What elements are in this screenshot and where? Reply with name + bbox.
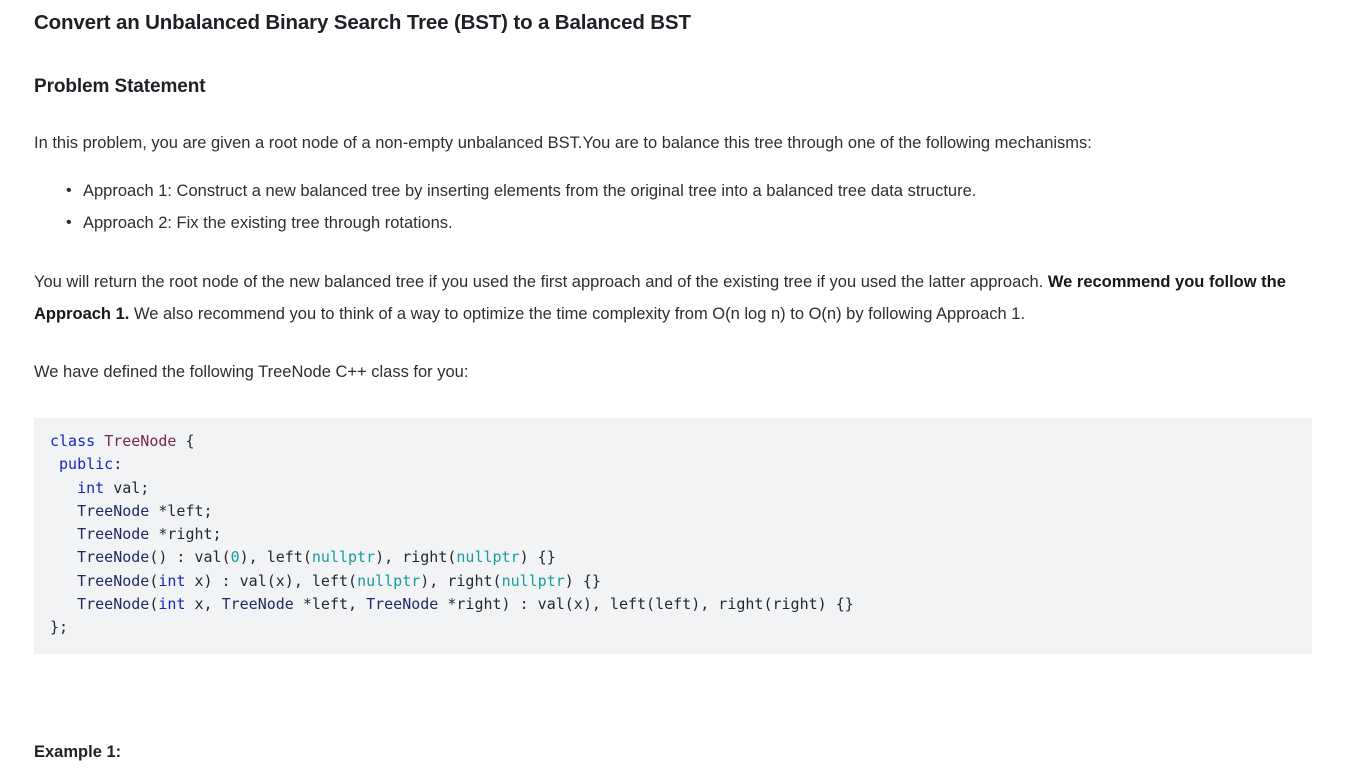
code-token: *right) : val(x), left(left), right(righ… — [438, 595, 853, 613]
section-heading-problem-statement: Problem Statement — [34, 36, 1312, 100]
code-token — [50, 502, 77, 520]
return-paragraph: You will return the root node of the new… — [34, 239, 1312, 330]
code-token: TreeNode — [104, 432, 176, 450]
code-token: TreeNode — [77, 502, 149, 520]
code-token: ), right( — [375, 548, 456, 566]
code-token: x, — [185, 595, 221, 613]
code-token: ), right( — [420, 572, 501, 590]
class-intro-paragraph: We have defined the following TreeNode C… — [34, 330, 1312, 388]
code-token: nullptr — [456, 548, 519, 566]
list-item: Approach 1: Construct a new balanced tre… — [83, 175, 1312, 207]
code-token: () : val( — [149, 548, 230, 566]
example-heading: Example 1: — [34, 654, 1312, 764]
approach-list: Approach 1: Construct a new balanced tre… — [34, 159, 1312, 239]
code-token — [50, 455, 59, 473]
document-page: Convert an Unbalanced Binary Search Tree… — [0, 0, 1346, 781]
code-token — [50, 479, 77, 497]
code-token: class — [50, 432, 95, 450]
code-token: *left; — [149, 502, 212, 520]
code-token — [50, 525, 77, 543]
code-token — [50, 572, 77, 590]
code-token — [95, 432, 104, 450]
code-token: TreeNode — [77, 572, 149, 590]
list-item: Approach 2: Fix the existing tree throug… — [83, 207, 1312, 239]
code-token: TreeNode — [366, 595, 438, 613]
code-token: nullptr — [502, 572, 565, 590]
code-token: TreeNode — [77, 595, 149, 613]
code-content: class TreeNode { public: int val; TreeNo… — [50, 430, 1296, 640]
code-token: ) {} — [520, 548, 556, 566]
page-title: Convert an Unbalanced Binary Search Tree… — [34, 0, 1312, 36]
code-token — [50, 595, 77, 613]
code-token: val; — [104, 479, 149, 497]
code-block: class TreeNode { public: int val; TreeNo… — [34, 418, 1312, 654]
code-token: int — [77, 479, 104, 497]
code-token — [50, 548, 77, 566]
code-token: *left, — [294, 595, 366, 613]
code-token: ), left( — [240, 548, 312, 566]
code-token: TreeNode — [222, 595, 294, 613]
code-token: ) {} — [565, 572, 601, 590]
code-token: public — [59, 455, 113, 473]
code-token: *right; — [149, 525, 221, 543]
intro-paragraph: In this problem, you are given a root no… — [34, 100, 1312, 159]
code-token: TreeNode — [77, 525, 149, 543]
code-token: int — [158, 572, 185, 590]
return-paragraph-part1: You will return the root node of the new… — [34, 273, 1048, 291]
code-token: int — [158, 595, 185, 613]
return-paragraph-part2: We also recommend you to think of a way … — [129, 305, 1025, 323]
code-token: nullptr — [357, 572, 420, 590]
code-token: nullptr — [312, 548, 375, 566]
code-token: }; — [50, 618, 68, 636]
code-token: TreeNode — [77, 548, 149, 566]
code-token: 0 — [231, 548, 240, 566]
code-token: : — [113, 455, 122, 473]
code-token: { — [176, 432, 194, 450]
code-token: x) : val(x), left( — [185, 572, 357, 590]
